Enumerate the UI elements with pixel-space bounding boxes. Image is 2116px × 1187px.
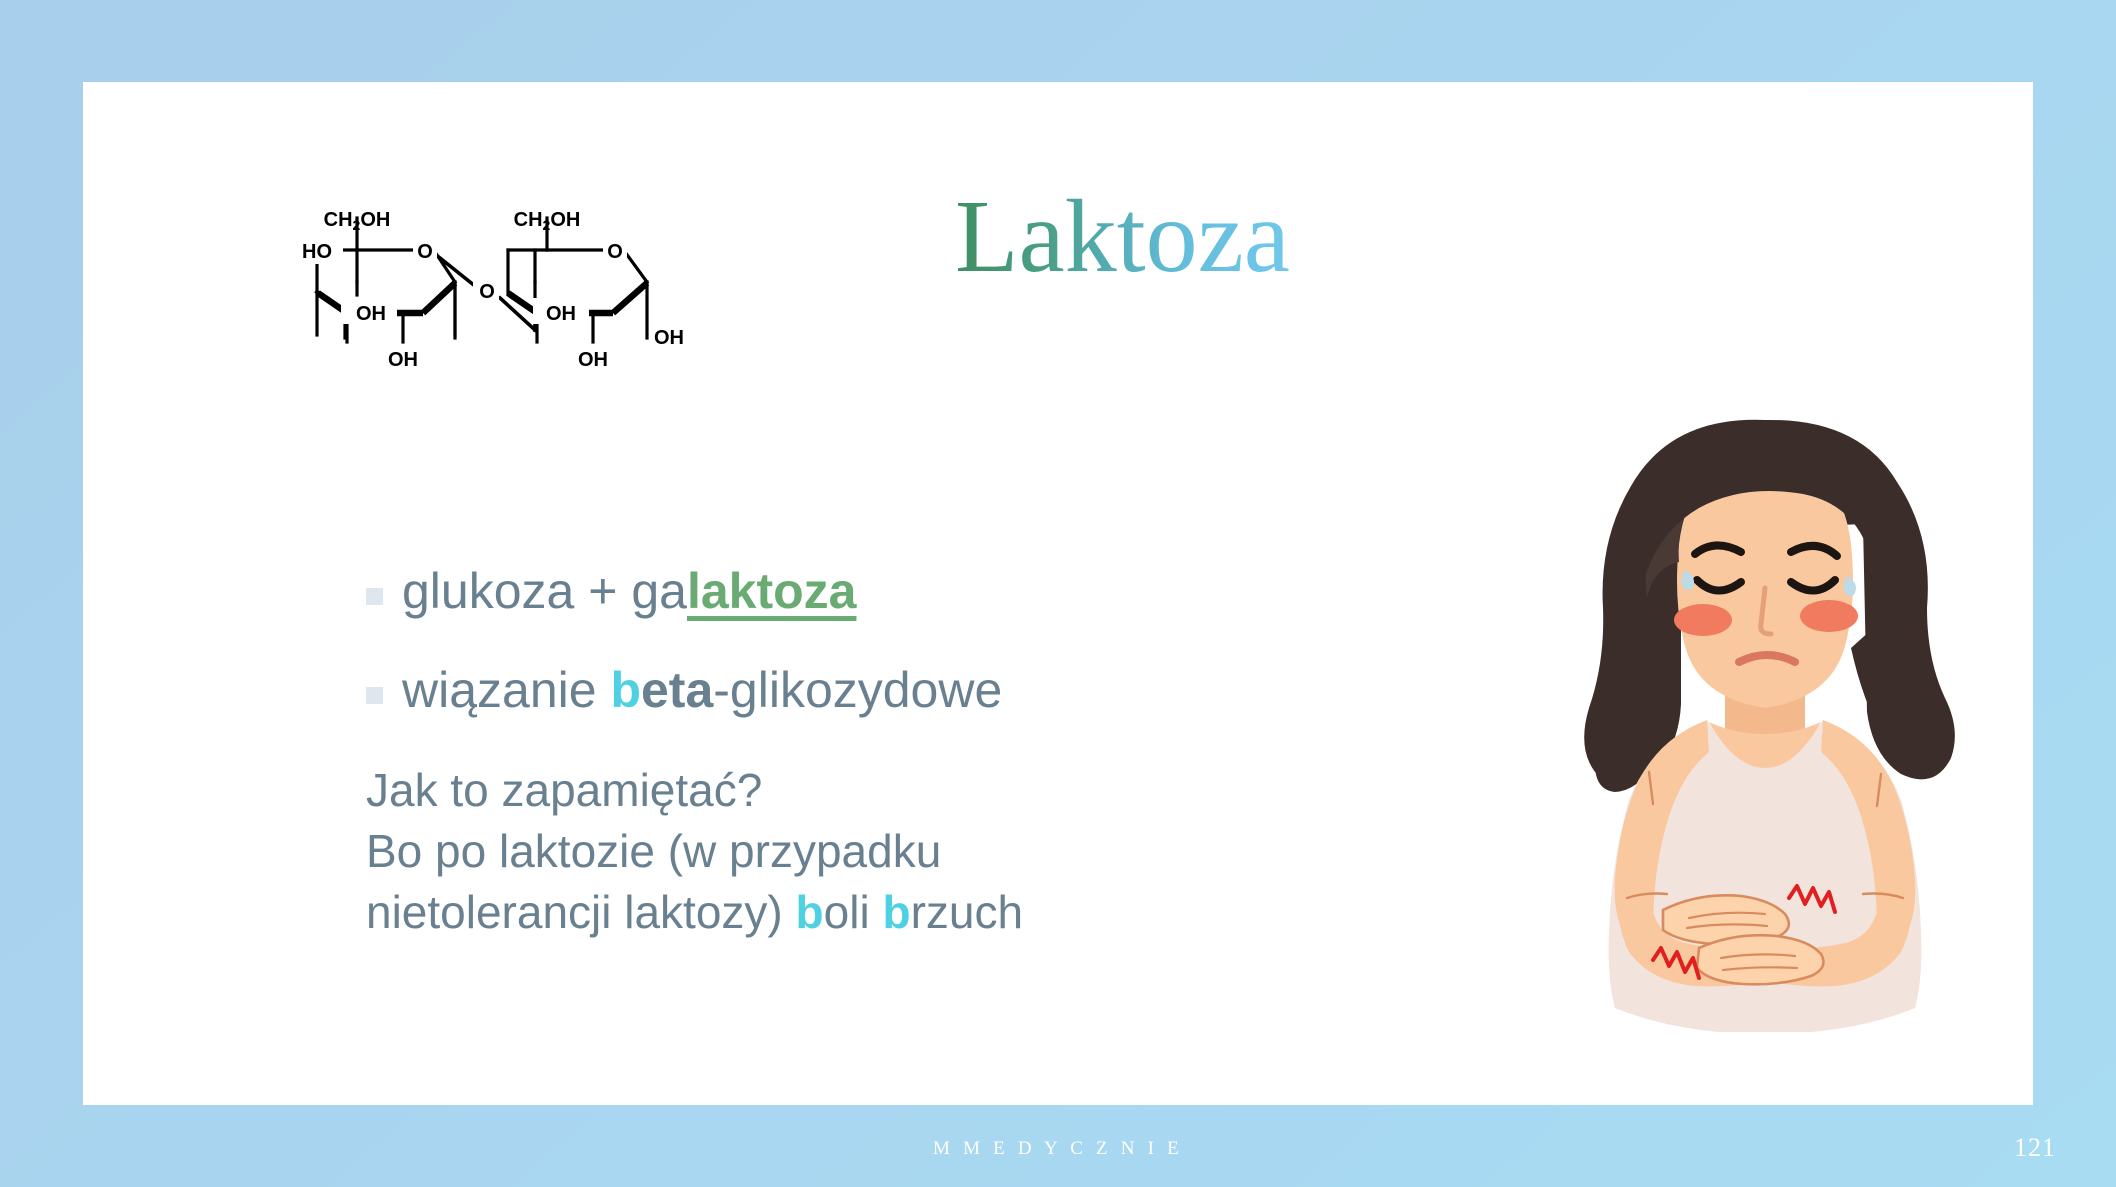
woman-with-stomach-ache-icon	[1503, 412, 2023, 1032]
list-item: glukoza + galaktoza	[366, 562, 1226, 621]
mnemonic-line-2: Bo po laktozie (w przypadku	[366, 821, 1226, 882]
mnemonic-line3-post: rzuch	[911, 886, 1023, 938]
hand-lower	[1697, 935, 1823, 984]
svg-text:OH: OH	[578, 349, 608, 371]
woman-stomach-ache-illustration	[1503, 412, 2023, 1032]
bond-suffix: -glikozydowe	[713, 662, 1002, 718]
mnemonic-paragraph: Jak to zapamiętać? Bo po laktozie (w prz…	[366, 760, 1226, 944]
blush-left	[1674, 604, 1732, 636]
lactose-structure-figure: CH2OH CH2OH HO O O O OH OH OH OH OH	[295, 210, 695, 440]
bullet-text-bond: wiązanie beta-glikozydowe	[402, 661, 1002, 720]
svg-text:OH: OH	[388, 349, 418, 371]
svg-text:O: O	[417, 241, 433, 263]
bullet-plain-prefix: glukoza + ga	[402, 563, 687, 619]
svg-text:O: O	[607, 241, 623, 263]
svg-text:HO: HO	[302, 241, 332, 263]
square-bullet-icon	[366, 588, 383, 605]
content-block: glukoza + galaktoza wiązanie beta-glikoz…	[366, 562, 1226, 944]
list-item: wiązanie beta-glikozydowe	[366, 661, 1226, 720]
svg-text:O: O	[479, 281, 495, 303]
mnemonic-line-1: Jak to zapamiętać?	[366, 760, 1226, 821]
footer-brand: M M E D Y C Z N I E	[0, 1138, 2116, 1160]
svg-text:CH2OH: CH2OH	[514, 210, 581, 233]
mnemonic-line3-pre: nietolerancji laktozy)	[366, 886, 796, 938]
blush-right	[1800, 600, 1858, 632]
mnemonic-line3-mid: oli	[824, 886, 883, 938]
page-number: 121	[2014, 1133, 2056, 1163]
accent-letter-b-boli: b	[796, 886, 824, 938]
slide-root: CH2OH CH2OH HO O O O OH OH OH OH OH Lakt…	[0, 0, 2116, 1187]
svg-text:OH: OH	[546, 303, 576, 325]
svg-text:OH: OH	[356, 303, 386, 325]
highlight-laktoza: laktoza	[687, 563, 857, 619]
slide-card: CH2OH CH2OH HO O O O OH OH OH OH OH Lakt…	[83, 82, 2033, 1105]
bond-bold-rest: eta	[641, 662, 713, 718]
accent-letter-b: b	[610, 662, 641, 718]
mnemonic-line-3: nietolerancji laktozy) boli brzuch	[366, 882, 1226, 943]
bullet-text-composition: glukoza + galaktoza	[402, 562, 856, 621]
bond-prefix: wiązanie	[402, 662, 610, 718]
square-bullet-icon	[366, 687, 383, 704]
lactose-haworth-icon: CH2OH CH2OH HO O O O OH OH OH OH OH	[295, 210, 695, 440]
svg-text:OH: OH	[654, 327, 684, 349]
accent-letter-b-brzuch: b	[882, 886, 910, 938]
page-title: Laktoza	[955, 182, 1290, 291]
svg-text:CH2OH: CH2OH	[324, 210, 391, 233]
